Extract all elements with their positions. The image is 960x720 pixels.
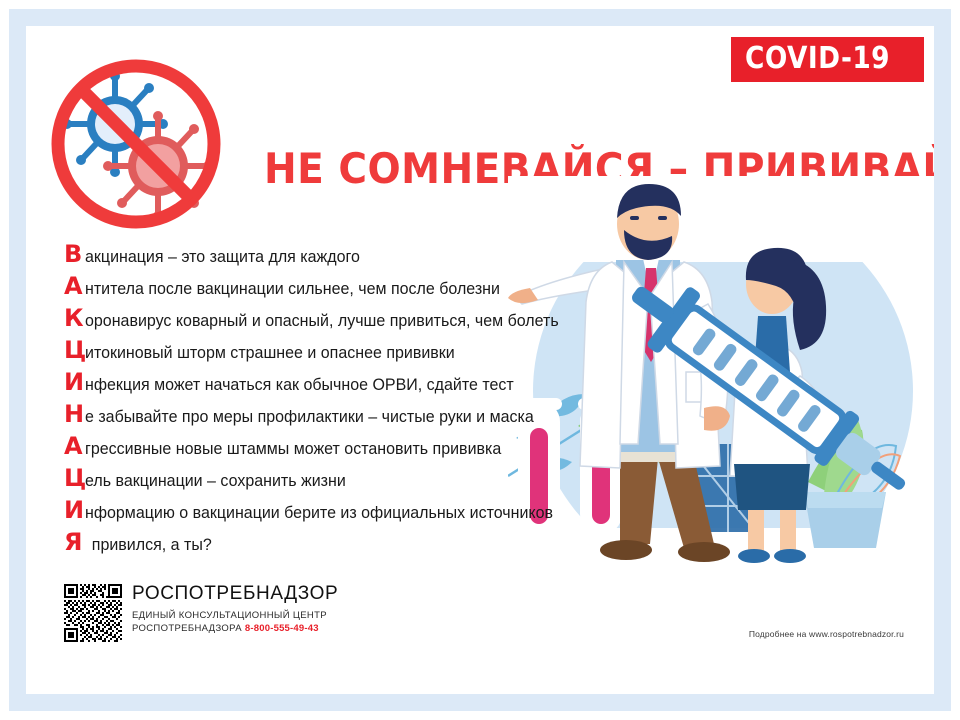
acrostic-text: итокиновый шторм страшнее и опаснее прив… [85, 345, 455, 362]
acrostic-letter: Ц [64, 466, 85, 490]
poster: COVID-19 [0, 0, 960, 720]
acrostic-text: нфекция может начаться как обычное ОРВИ,… [85, 377, 514, 394]
acrostic-list: В акцинация – это защита для каждого А н… [64, 242, 624, 562]
rospotrebnadzor-logo-block: РОСПОТРЕБНАДЗОР ЕДИНЫЙ КОНСУЛЬТАЦИОННЫЙ … [64, 582, 338, 642]
acrostic-text: привился, а ты? [85, 537, 212, 554]
covid19-badge-label: COVID-19 [745, 44, 890, 74]
acrostic-row: Ц ель вакцинации – сохранить жизни [64, 466, 624, 498]
poster-content: COVID-19 [26, 26, 934, 694]
acrostic-row: И нформацию о вакцинации берите из офици… [64, 498, 624, 530]
org-subtitle-prefix: РОСПОТРЕБНАДЗОРА [132, 623, 242, 634]
acrostic-text: е забывайте про меры профилактики – чист… [85, 409, 534, 426]
acrostic-row: И нфекция может начаться как обычное ОРВ… [64, 370, 624, 402]
acrostic-row: А грессивные новые штаммы может останови… [64, 434, 624, 466]
qr-code-icon[interactable] [64, 584, 122, 642]
acrostic-text: оронавирус коварный и опасный, лучше при… [85, 313, 559, 330]
acrostic-letter: Н [64, 402, 85, 426]
acrostic-row: Ц итокиновый шторм страшнее и опаснее пр… [64, 338, 624, 370]
org-subtitle-line2: РОСПОТРЕБНАДЗОРА 8-800-555-49-43 [132, 623, 338, 636]
hotline-phone[interactable]: 8-800-555-49-43 [245, 623, 319, 634]
acrostic-text: акцинация – это защита для каждого [85, 249, 360, 266]
acrostic-letter: И [64, 498, 85, 522]
acrostic-row: Я привился, а ты? [64, 530, 624, 562]
no-virus-icon [48, 56, 224, 232]
acrostic-row: В акцинация – это защита для каждого [64, 242, 624, 274]
acrostic-text: грессивные новые штаммы может остановить… [85, 441, 501, 458]
org-subtitle-line1: ЕДИНЫЙ КОНСУЛЬТАЦИОННЫЙ ЦЕНТР [132, 610, 338, 623]
acrostic-letter: А [64, 434, 85, 458]
logo-text-block: РОСПОТРЕБНАДЗОР ЕДИНЫЙ КОНСУЛЬТАЦИОННЫЙ … [132, 582, 338, 636]
acrostic-letter: Я [64, 530, 85, 554]
acrostic-letter: И [64, 370, 85, 394]
acrostic-letter: К [64, 306, 85, 330]
acrostic-row: А нтитела после вакцинации сильнее, чем … [64, 274, 624, 306]
acrostic-text: ель вакцинации – сохранить жизни [85, 473, 346, 490]
org-name: РОСПОТРЕБНАДЗОР [132, 584, 338, 603]
acrostic-row: К оронавирус коварный и опасный, лучше п… [64, 306, 624, 338]
acrostic-row: Н е забывайте про меры профилактики – чи… [64, 402, 624, 434]
acrostic-letter: А [64, 274, 85, 298]
website-note[interactable]: Подробнее на www.rospotrebnadzor.ru [749, 629, 904, 639]
acrostic-text: нтитела после вакцинации сильнее, чем по… [85, 281, 500, 298]
covid19-badge: COVID-19 [731, 37, 924, 82]
acrostic-text: нформацию о вакцинации берите из официал… [85, 505, 553, 522]
acrostic-letter: В [64, 242, 85, 266]
acrostic-letter: Ц [64, 338, 85, 362]
